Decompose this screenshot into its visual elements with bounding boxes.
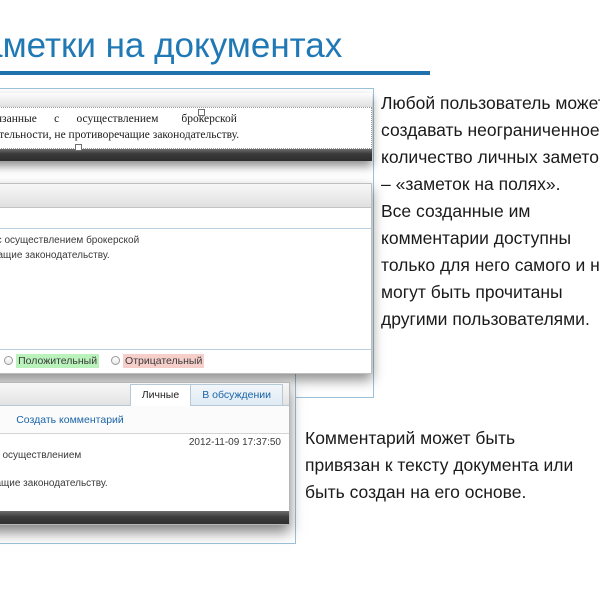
side-note-line: Все созданные им [381,198,600,225]
selection-handle-icon[interactable] [75,144,82,151]
comment-line: деятельности, не противоречащие законода… [0,477,281,491]
radio-unselected-icon[interactable] [111,356,120,365]
side-note-line: создавать неограниченное [381,117,600,144]
side-note-line: другими пользователями. [381,306,600,333]
radio-unselected-icon[interactable] [4,356,13,365]
page-title: Заметки на документах [0,24,442,68]
side-note-line: Любой пользователь может [381,90,600,117]
side-note-line: Комментарий может быть [305,425,573,452]
tone-radio-group: Оттенок: Нейтральный Положительный Отриц… [0,349,371,373]
doc-word: брокерской [181,111,237,127]
doc-word: с [54,111,59,127]
comments-panel-header: Комментарии Личные В обсуждении [0,383,289,406]
tone-option-positive[interactable]: Положительный [4,355,102,367]
side-note-line: комментарии доступны [381,225,600,252]
side-note-line: – «заметок на полях». [381,171,600,198]
comment-text-label: Текст комментария: [0,208,371,229]
document-text-selection[interactable]: и прочие работы, связанные с осуществлен… [0,107,372,149]
comment-body-line: и прочие работы, связанные с осуществлен… [0,234,359,248]
document-excerpt-panel: и прочие работы, связанные с осуществлен… [0,93,372,161]
comments-panel-statusbar [0,511,289,524]
create-comment-bar[interactable]: Создать комментарий [0,406,289,434]
side-note-line: только для него самого и не [381,252,600,279]
doc-word: связанные [0,111,37,127]
tone-option-negative[interactable]: Отрицательный [111,355,204,367]
comments-list-panel: Комментарии Личные В обсуждении Создать … [0,382,290,525]
comment-list-item[interactable]: 2012-11-09 17:37:50 и прочие работы, свя… [0,434,289,511]
comment-body-line: Согласен с формулировкой. [0,264,359,278]
document-line-2: деятельности, не противоречащие законода… [0,127,363,143]
comment-text-area[interactable]: и прочие работы, связанные с осуществлен… [0,229,371,349]
comment-line: брокерской [0,463,281,477]
side-note-1: Любой пользователь может создавать неогр… [381,90,600,333]
comment-body-line: деятельности, не противоречащие законода… [0,249,359,263]
tone-option-label: Отрицательный [123,354,204,368]
side-note-2: Комментарий может быть привязан к тексту… [305,425,573,506]
side-note-line: могут быть прочитаны [381,279,600,306]
comments-tabs: Личные В обсуждении [131,384,283,405]
document-line-1: и прочие работы, связанные с осуществлен… [0,111,363,127]
doc-word: осуществлением [76,111,158,127]
document-panel-statusbar [0,149,372,161]
title-underline-rule [0,71,430,75]
comment-line: Согласен с формулировкой. [0,491,281,505]
selection-handle-icon[interactable] [198,109,205,116]
side-note-line: быть создан на его основе. [305,479,573,506]
tab-personal[interactable]: Личные [130,384,191,406]
create-comment-dialog: Создание комментария Текст комментария: … [0,183,372,374]
tone-option-label: Положительный [16,354,99,368]
document-panel-toolbar [0,93,372,107]
dialog-title: Создание комментария [0,184,371,208]
comment-timestamp: 2012-11-09 17:37:50 [0,437,281,448]
create-comment-link[interactable]: Создать комментарий [16,414,124,426]
side-note-line: привязан к тексту документа или [305,452,573,479]
tab-in-discussion[interactable]: В обсуждении [190,384,283,405]
comment-line: и прочие работы, связанные с осуществлен… [0,449,281,463]
side-note-line: количество личных заметок [381,144,600,171]
